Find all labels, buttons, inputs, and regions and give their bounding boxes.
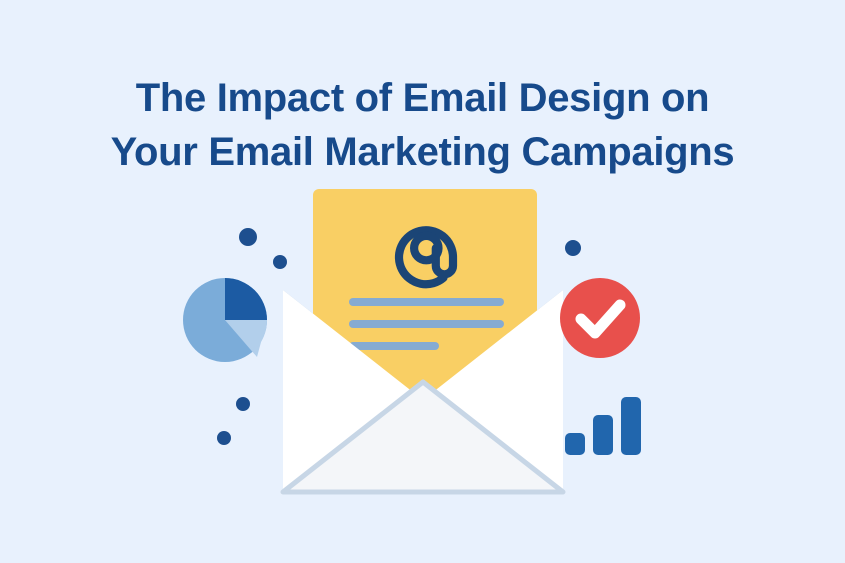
letter-text-line-1 — [349, 298, 504, 306]
letter-text-line-3 — [349, 342, 439, 350]
dot-icon-4 — [217, 431, 231, 445]
dot-icon-3 — [236, 397, 250, 411]
bar-3 — [621, 397, 641, 455]
bar-chart — [565, 397, 641, 455]
check-badge — [560, 278, 640, 358]
bar-2 — [593, 415, 613, 455]
email-marketing-illustration — [0, 0, 845, 563]
dot-icon-2 — [273, 255, 287, 269]
dot-icon-1 — [239, 228, 257, 246]
banner: The Impact of Email Design on Your Email… — [0, 0, 845, 563]
check-badge-circle — [560, 278, 640, 358]
dot-icon-5 — [565, 240, 581, 256]
bar-1 — [565, 433, 585, 455]
pie-chart — [183, 278, 267, 362]
letter-text-line-2 — [349, 320, 504, 328]
pie-slice-dark — [225, 278, 267, 320]
